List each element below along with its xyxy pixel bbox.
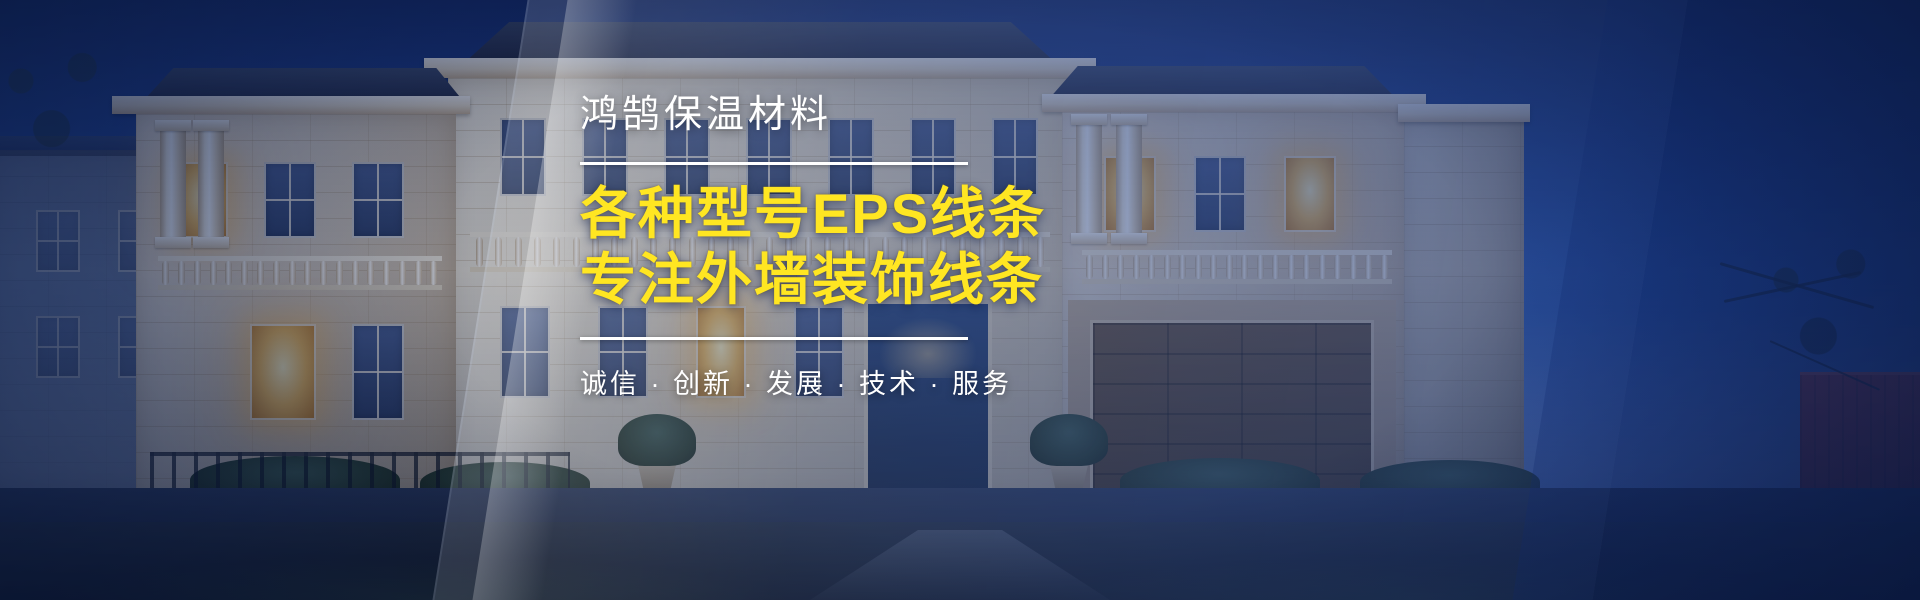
headline-block: 各种型号EPS线条 专注外墙装饰线条 [580,181,1320,313]
headline-line-2: 专注外墙装饰线条 [580,247,1320,313]
divider-rule-bottom [580,337,968,340]
tagline: 诚信 · 创新 · 发展 · 技术 · 服务 [580,362,1320,401]
banner-copy: 鸿鹄保温材料 各种型号EPS线条 专注外墙装饰线条 诚信 · 创新 · 发展 ·… [580,96,1320,401]
headline-line-1: 各种型号EPS线条 [580,181,1320,247]
hero-banner: 鸿鹄保温材料 各种型号EPS线条 专注外墙装饰线条 诚信 · 创新 · 发展 ·… [0,0,1920,600]
brand-name: 鸿鹄保温材料 [580,96,1320,134]
divider-rule-top [580,162,968,165]
